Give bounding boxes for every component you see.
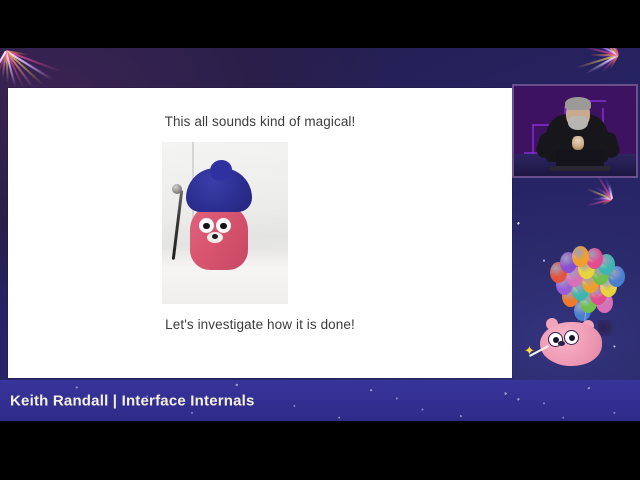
speaker-laptop: [556, 150, 604, 166]
plush-snout: [207, 232, 223, 243]
stream-viewport: This all sounds kind of magical! Let's i…: [0, 0, 640, 480]
circuit-line: [532, 124, 534, 154]
balloon: [572, 246, 589, 267]
gopher-plush-wizard-photo: [162, 142, 288, 304]
gopher-eye-right: [564, 330, 579, 345]
speaker-label: Keith Randall | Interface Internals: [10, 392, 255, 409]
plush-eye-left: [199, 218, 214, 233]
gopher-nose: [558, 341, 565, 346]
plush-staff-orb: [172, 184, 182, 194]
balloon-gopher-mascot: ✦: [524, 246, 636, 376]
speaker-webcam-inset[interactable]: [512, 84, 638, 178]
letterbox-bottom: [0, 421, 640, 480]
plush-eye-right: [216, 218, 231, 233]
letterbox-top: [0, 0, 640, 48]
slide-heading: This all sounds kind of magical!: [8, 114, 512, 129]
speaker-hair: [565, 97, 591, 110]
wand-star-icon: ✦: [524, 344, 535, 357]
speaker-beard: [568, 116, 588, 130]
lower-third-banner: Keith Randall | Interface Internals: [0, 380, 640, 421]
slide-footnote: Let's investigate how it is done!: [8, 317, 512, 332]
gopher-tail: [598, 320, 616, 336]
speaker-shirt-logo: [572, 136, 584, 150]
presentation-slide: This all sounds kind of magical! Let's i…: [8, 88, 512, 378]
